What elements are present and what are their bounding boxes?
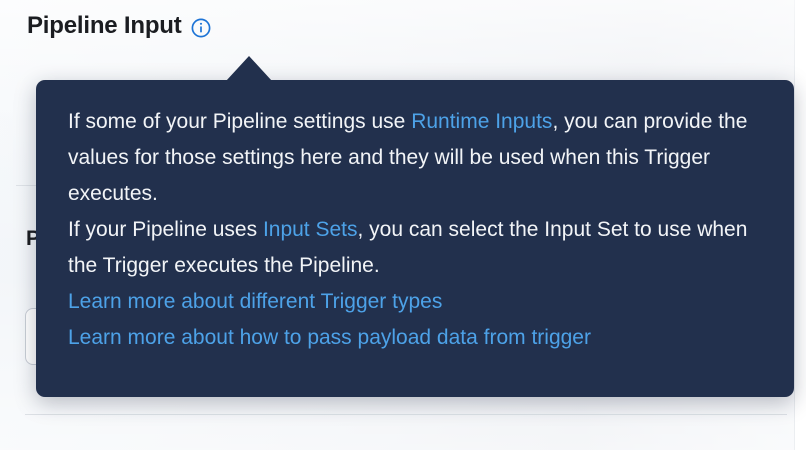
page-title: Pipeline Input xyxy=(27,11,182,41)
input-sets-link[interactable]: Input Sets xyxy=(263,218,358,241)
tooltip-paragraph-1: If some of your Pipeline settings use Ru… xyxy=(68,104,762,212)
info-circle-icon[interactable] xyxy=(191,15,211,38)
section-header: Pipeline Input xyxy=(27,11,211,41)
learn-more-payload-data-link[interactable]: Learn more about how to pass payload dat… xyxy=(68,320,762,356)
tooltip-p2-text-before: If your Pipeline uses xyxy=(68,218,263,241)
bottom-divider xyxy=(25,414,787,415)
learn-more-trigger-types-link[interactable]: Learn more about different Trigger types xyxy=(68,284,762,320)
runtime-inputs-link[interactable]: Runtime Inputs xyxy=(411,110,552,133)
outer-right-strip xyxy=(795,0,806,450)
screen-root: Pipeline Input P If some of your Pipelin… xyxy=(0,0,806,450)
tooltip-p1-text-before: If some of your Pipeline settings use xyxy=(68,110,411,133)
pipeline-input-tooltip: If some of your Pipeline settings use Ru… xyxy=(36,80,794,397)
tooltip-paragraph-2: If your Pipeline uses Input Sets, you ca… xyxy=(68,212,762,284)
tooltip-arrow xyxy=(226,56,272,81)
